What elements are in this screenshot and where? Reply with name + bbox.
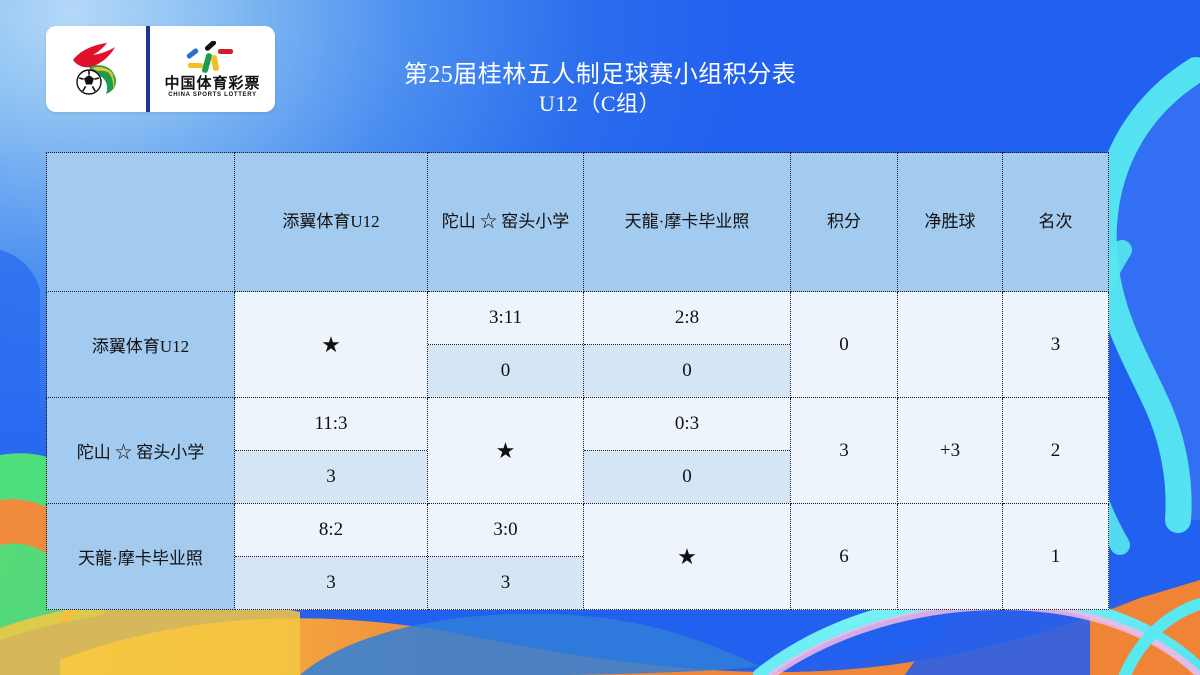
group-standings-table: 添翼体育U12 陀山 ☆ 窑头小学 天龍·摩卡毕业照 积分 净胜球 名次 添翼体…	[46, 152, 1109, 610]
match-score: 0:3	[584, 398, 790, 451]
header-goal-diff: 净胜球	[898, 153, 1003, 292]
row-total-points: 0	[791, 292, 898, 398]
table-header-row: 添翼体育U12 陀山 ☆ 窑头小学 天龍·摩卡毕业照 积分 净胜球 名次	[47, 153, 1109, 292]
row-goal-difference: +3	[898, 398, 1003, 504]
header-points: 积分	[791, 153, 898, 292]
match-points: 3	[428, 557, 583, 609]
match-result-cell: 0:30	[584, 398, 791, 504]
title-main: 第25届桂林五人制足球赛小组积分表	[0, 60, 1200, 90]
row-total-points: 6	[791, 504, 898, 610]
header-team-3: 天龍·摩卡毕业照	[584, 153, 791, 292]
match-points: 0	[584, 345, 790, 397]
header-rank: 名次	[1003, 153, 1109, 292]
match-score: 2:8	[584, 292, 790, 345]
match-score: 11:3	[235, 398, 427, 451]
match-result-cell: 3:110	[428, 292, 584, 398]
row-team-name: 陀山 ☆ 窑头小学	[47, 398, 235, 504]
table-row: 陀山 ☆ 窑头小学11:33★0:303+32	[47, 398, 1109, 504]
match-points: 0	[428, 345, 583, 397]
row-total-points: 3	[791, 398, 898, 504]
self-match-star-icon: ★	[584, 504, 791, 610]
row-goal-difference	[898, 292, 1003, 398]
row-rank: 1	[1003, 504, 1109, 610]
row-goal-difference	[898, 504, 1003, 610]
match-score: 3:0	[428, 504, 583, 557]
match-points: 3	[235, 557, 427, 609]
header-team-1: 添翼体育U12	[235, 153, 428, 292]
match-result-cell: 2:80	[584, 292, 791, 398]
table-row: 天龍·摩卡毕业照8:233:03★61	[47, 504, 1109, 610]
title-sub: U12（C组）	[0, 90, 1200, 118]
match-score: 3:11	[428, 292, 583, 345]
match-result-cell: 3:03	[428, 504, 584, 610]
blue-band-left	[0, 250, 40, 482]
header-team-2: 陀山 ☆ 窑头小学	[428, 153, 584, 292]
row-team-name: 天龍·摩卡毕业照	[47, 504, 235, 610]
match-points: 3	[235, 451, 427, 503]
self-match-star-icon: ★	[235, 292, 428, 398]
page-title: 第25届桂林五人制足球赛小组积分表 U12（C组）	[0, 60, 1200, 118]
match-points: 0	[584, 451, 790, 503]
match-result-cell: 11:33	[235, 398, 428, 504]
row-rank: 2	[1003, 398, 1109, 504]
self-match-star-icon: ★	[428, 398, 584, 504]
header-corner	[47, 153, 235, 292]
match-result-cell: 8:23	[235, 504, 428, 610]
match-score: 8:2	[235, 504, 427, 557]
row-team-name: 添翼体育U12	[47, 292, 235, 398]
row-rank: 3	[1003, 292, 1109, 398]
table-row: 添翼体育U12★3:1102:8003	[47, 292, 1109, 398]
